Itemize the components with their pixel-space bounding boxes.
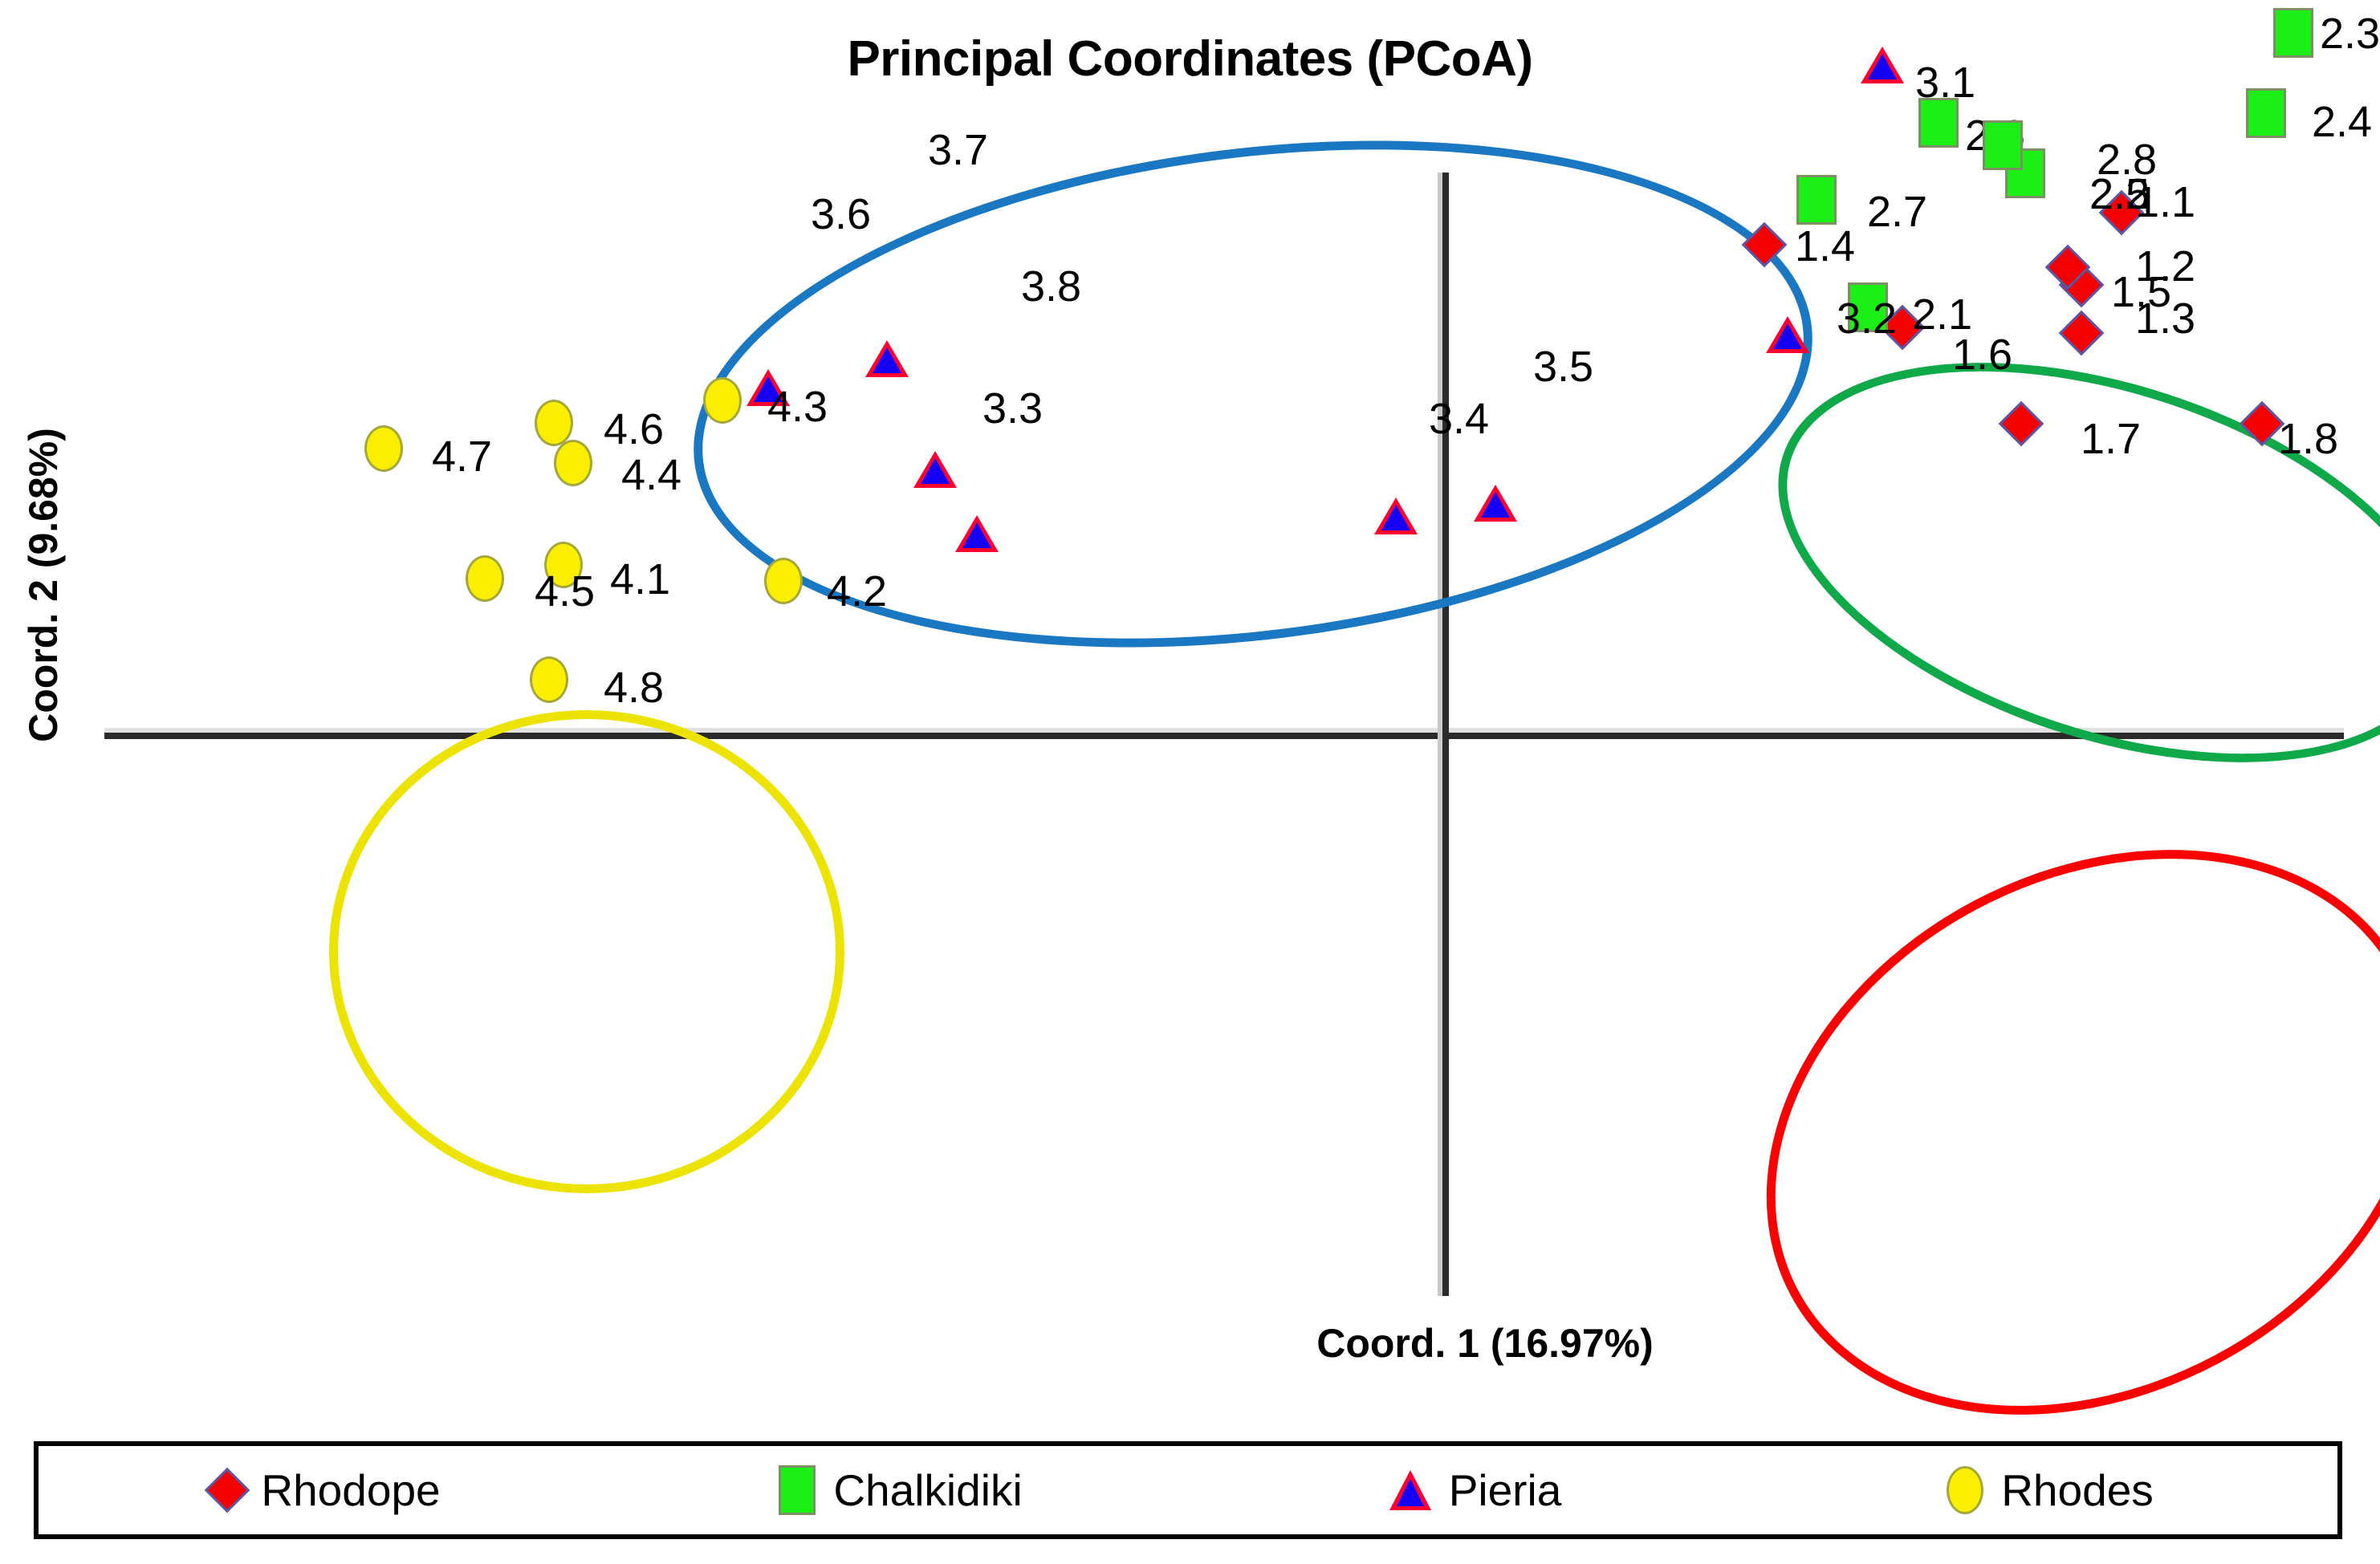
data-point-label-2-4: 2.4: [2312, 100, 2372, 144]
legend-item-label: Chalkidiki: [833, 1464, 1022, 1516]
data-point-label-3-4: 3.4: [1429, 397, 1489, 441]
legend-item-label: Pieria: [1449, 1464, 1562, 1516]
data-point-label-4-7: 4.7: [432, 435, 492, 478]
legend-item-chalkidiki[interactable]: Chalkidiki: [613, 1464, 1188, 1516]
legend-item-label: Rhodope: [261, 1464, 440, 1516]
data-point-3-7[interactable]: [865, 340, 909, 377]
data-point-label-3-6: 3.6: [811, 193, 871, 236]
cluster-ellipse-chalkidiki: [1728, 287, 2380, 839]
data-point-3-4[interactable]: [1374, 498, 1418, 534]
data-point-4-3[interactable]: [703, 377, 742, 424]
data-point-label-3-5: 3.5: [1533, 345, 1593, 388]
data-point-label-3-7: 3.7: [928, 128, 988, 172]
data-point-label-1-8: 1.8: [2278, 417, 2338, 461]
data-point-label-2-1: 2.1: [1912, 293, 1972, 336]
data-point-2-3[interactable]: [2273, 8, 2313, 58]
circle-marker-icon: [1947, 1466, 1983, 1514]
legend-item-rhodes[interactable]: Rhodes: [1763, 1464, 2337, 1516]
data-point-label-3-8: 3.8: [1021, 265, 1081, 308]
data-point-4-8[interactable]: [530, 656, 568, 703]
data-point-label-4-3: 4.3: [767, 385, 828, 429]
x-axis-line: [104, 733, 2344, 739]
data-point-label-1-6: 1.6: [1952, 333, 2012, 376]
data-point-3-5[interactable]: [1474, 485, 1517, 522]
triangle-marker-icon: [1389, 1470, 1431, 1510]
data-point-4-2[interactable]: [764, 558, 803, 604]
data-point-3-3[interactable]: [913, 451, 957, 488]
legend-item-pieria[interactable]: Pieria: [1188, 1464, 1763, 1516]
data-point-4-4[interactable]: [554, 440, 592, 486]
data-point-2-4[interactable]: [2246, 88, 2286, 138]
data-point-label-2-7: 2.7: [1867, 190, 1927, 234]
data-point-label-4-2: 4.2: [827, 570, 887, 613]
y-axis-label: Coord. 2 (9.68%): [20, 304, 67, 866]
data-point-label-1-5: 1.5: [2111, 270, 2171, 314]
data-point-label-3-1: 3.1: [1915, 61, 1975, 104]
legend: RhodopeChalkidikiPieriaRhodes: [34, 1441, 2342, 1539]
data-point-3-1[interactable]: [1861, 47, 1904, 83]
data-point-2-7[interactable]: [1796, 175, 1837, 225]
data-point-1-3[interactable]: [2059, 311, 2105, 356]
data-point-label-1-7: 1.7: [2081, 417, 2141, 461]
data-point-4-7[interactable]: [364, 425, 403, 472]
data-point-label-4-4: 4.4: [621, 453, 681, 497]
data-point-3-2[interactable]: [1766, 316, 1809, 353]
diamond-marker-icon: [205, 1468, 250, 1513]
x-axis-label: Coord. 1 (16.97%): [1204, 1320, 1766, 1367]
legend-item-label: Rhodes: [2001, 1464, 2154, 1516]
pcoa-chart: Principal Coordinates (PCoA) 1.11.21.31.…: [0, 0, 2380, 1564]
cluster-ellipse-rhodes: [329, 710, 844, 1193]
cluster-ellipse-rhodope: [1667, 739, 2380, 1525]
data-point-label-4-1: 4.1: [610, 558, 670, 601]
data-point-3-8[interactable]: [955, 515, 999, 552]
data-point-4-5[interactable]: [466, 555, 504, 602]
data-point-2-8[interactable]: [1983, 120, 2023, 170]
data-point-label-1-4: 1.4: [1795, 225, 1855, 268]
data-point-label-3-3: 3.3: [983, 387, 1043, 430]
plot-area: 1.11.21.31.41.51.61.71.82.12.22.32.42.52…: [0, 0, 2380, 1420]
data-point-label-4-6: 4.6: [604, 408, 664, 451]
square-marker-icon: [779, 1465, 816, 1515]
data-point-label-2-8: 2.8: [2097, 138, 2157, 181]
data-point-label-3-2: 3.2: [1837, 297, 1897, 340]
legend-item-rhodope[interactable]: Rhodope: [39, 1464, 613, 1516]
data-point-label-4-8: 4.8: [604, 666, 664, 709]
data-point-4-6[interactable]: [535, 400, 573, 446]
data-point-label-4-5: 4.5: [535, 570, 595, 613]
data-point-label-2-3: 2.3: [2320, 12, 2380, 55]
